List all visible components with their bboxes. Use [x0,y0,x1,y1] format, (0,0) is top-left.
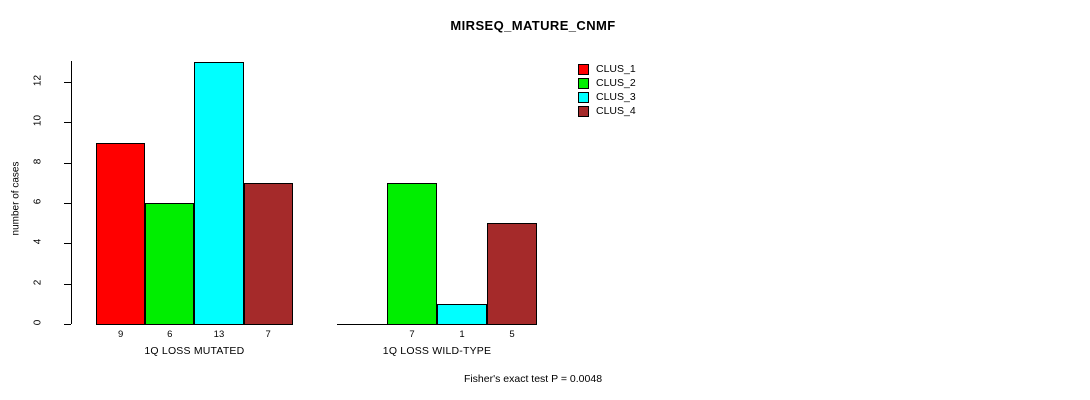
y-axis-label: number of cases [11,139,22,259]
x-axis-line [96,324,293,325]
bar-value-label [337,329,387,340]
bar[interactable] [387,183,437,324]
y-axis-tick [64,324,71,325]
y-axis-tick [64,203,71,204]
bar-value-label: 6 [145,329,194,340]
y-axis-tick [64,243,71,244]
y-axis-tick [64,284,71,285]
bar-value-label: 13 [194,329,243,340]
bar-value-label: 7 [244,329,293,340]
y-axis-tick-label: 10 [33,101,44,141]
y-axis-tick [64,122,71,123]
x-axis-line [337,324,537,325]
bar-row [96,61,293,324]
legend-swatch-icon [578,64,589,75]
bar[interactable] [194,62,243,324]
page-title: MIRSEQ_MATURE_CNMF [0,18,1078,33]
legend-item[interactable]: CLUS_4 [578,104,636,118]
legend-item[interactable]: CLUS_3 [578,90,636,104]
y-axis-tick-label: 2 [33,262,44,302]
y-axis-tick [64,82,71,83]
bar-value-labels: 96137 [96,329,293,340]
y-axis-line [71,61,72,324]
bar-value-label: 5 [487,329,537,340]
x-axis-group-label: 1Q LOSS WILD-TYPE [337,345,537,357]
legend-label: CLUS_1 [596,63,636,75]
bar[interactable] [96,143,145,324]
y-axis-tick-label: 12 [33,61,44,101]
legend-label: CLUS_2 [596,77,636,89]
bar[interactable] [244,183,293,324]
footer-annotation: Fisher's exact test P = 0.0048 [0,373,1078,385]
chart-canvas: MIRSEQ_MATURE_CNMF number of cases 02468… [0,0,1090,400]
bar-value-label: 9 [96,329,145,340]
y-axis-tick-label: 6 [33,182,44,222]
bar-row [337,61,537,324]
bar[interactable] [145,203,194,324]
legend-swatch-icon [578,92,589,103]
legend-label: CLUS_3 [596,91,636,103]
y-axis-tick [64,163,71,164]
legend-item[interactable]: CLUS_2 [578,76,636,90]
legend-swatch-icon [578,78,589,89]
bar[interactable] [437,304,487,324]
legend: CLUS_1CLUS_2CLUS_3CLUS_4 [578,62,636,118]
bar-value-labels: 715 [337,329,537,340]
legend-swatch-icon [578,106,589,117]
bar-value-label: 7 [387,329,437,340]
bar-group: 7151Q LOSS WILD-TYPE [337,61,537,324]
bar-group: 961371Q LOSS MUTATED [96,61,293,324]
legend-item[interactable]: CLUS_1 [578,62,636,76]
legend-label: CLUS_4 [596,105,636,117]
bar-value-label: 1 [437,329,487,340]
y-axis-tick-label: 8 [33,141,44,181]
bar[interactable] [487,223,537,324]
y-axis-tick-label: 4 [33,222,44,262]
y-axis-tick-label: 0 [33,303,44,343]
x-axis-group-label: 1Q LOSS MUTATED [96,345,293,357]
